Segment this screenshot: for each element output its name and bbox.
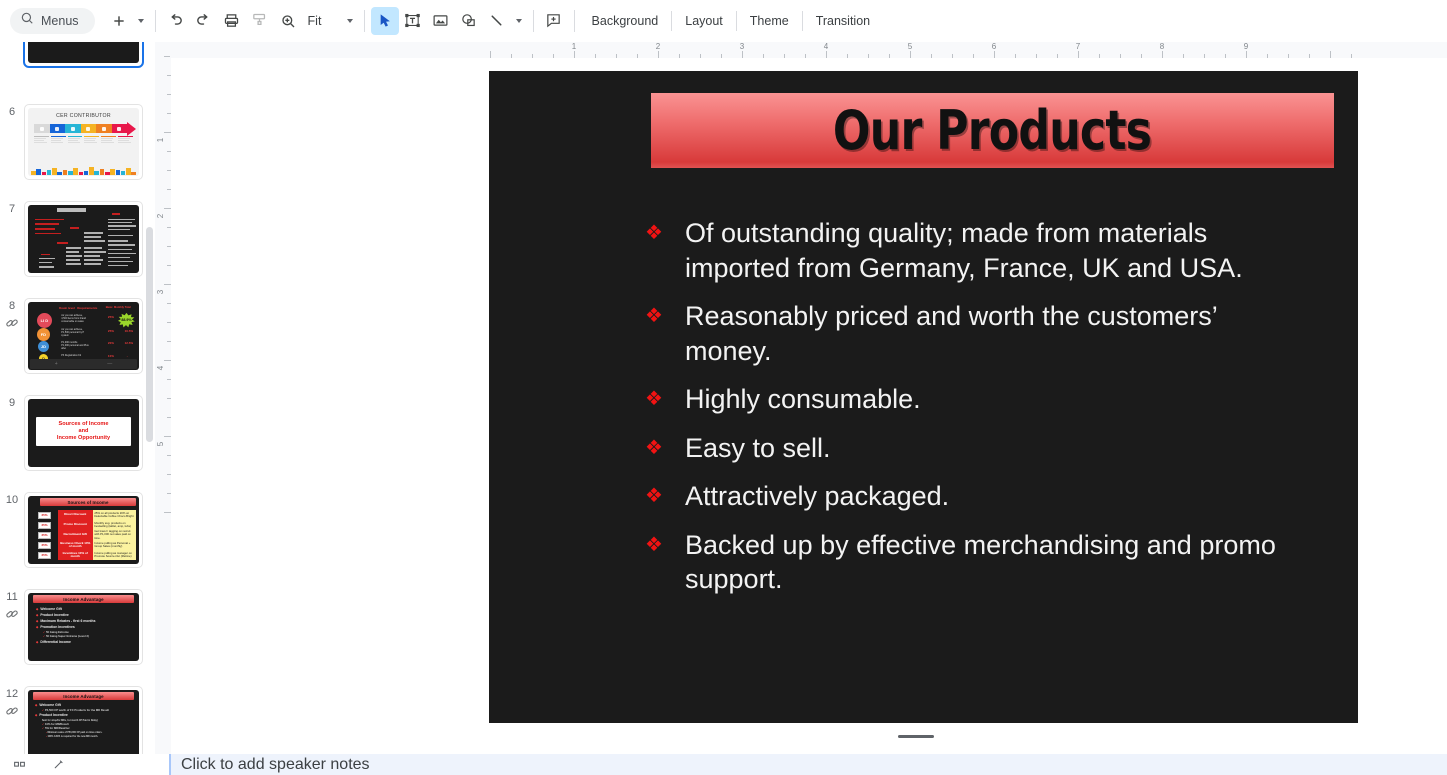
slide-9-meta: 9 <box>0 395 24 409</box>
mini-pct: 20% <box>108 341 114 345</box>
mini-line: Income Opportunity <box>36 435 131 442</box>
ruler-h-label: 7 <box>1076 42 1080 51</box>
paint-format-button[interactable] <box>246 7 274 35</box>
ruler-h-label: 4 <box>824 42 828 51</box>
horizontal-ruler: 1 2 3 4 5 6 7 8 <box>170 42 1447 58</box>
mini-pct: 25% <box>108 329 114 333</box>
slide-number: 9 <box>9 397 15 409</box>
list-item-text: Reasonably priced and worth the customer… <box>685 299 1285 368</box>
bullet-diamond-icon: ❖ <box>639 431 685 465</box>
menus-button[interactable]: Menus <box>10 8 95 34</box>
bullet-diamond-icon: ❖ <box>639 479 685 513</box>
slide-canvas[interactable]: Our Products ❖ Of outstanding quality; m… <box>171 58 1447 754</box>
mini-bullet: ◆Welcome Gift <box>35 703 135 708</box>
mini-text: As you can achieve,P1,500 personal by Ps… <box>61 328 94 337</box>
slide-10-thumbnail[interactable]: Sources of Income 25% 25% 25% 25% 25% Di… <box>24 492 143 568</box>
slide-number: 10 <box>6 494 18 506</box>
linked-file-icon <box>5 704 19 718</box>
filmstrip-slide-6[interactable]: 6 CER CONTRIBUTOR <box>0 104 155 180</box>
mini-subbullet: ✓ 50 Gaing Super Extreme (Level 3) <box>43 635 135 639</box>
mini-ticks <box>34 136 133 147</box>
filmstrip-slide-12[interactable]: 12 Income Advantage ◆Welcome Gift ✓ P4,5… <box>0 686 155 754</box>
print-button[interactable] <box>218 7 246 35</box>
insert-image-tool[interactable] <box>427 7 455 35</box>
ruler-h-label: 3 <box>740 42 744 51</box>
mini-table: 25% 25% 25% 25% 25% Direct Discount Prom… <box>38 510 136 560</box>
mini-title: Income Advantage <box>33 595 134 603</box>
filmstrip-slide-8[interactable]: 8 Down level Requirements Basic Monthly … <box>0 298 155 374</box>
ruler-h-label: 2 <box>656 42 660 51</box>
mini-col-header: Down level Requirements <box>59 306 97 310</box>
mini-bar-chart <box>31 166 136 175</box>
speaker-notes-pane[interactable]: Click to add speaker notes <box>171 754 1447 775</box>
ruler-h-label: 1 <box>572 42 576 51</box>
theme-button[interactable]: Theme <box>739 10 800 32</box>
mini-line: Sources of Income <box>36 421 131 428</box>
ruler-h-label: 9 <box>1244 42 1248 51</box>
slide-12-preview: Income Advantage ◆Welcome Gift ✓ P4,500 … <box>28 690 139 754</box>
list-item-text: Backed up by effective merchandising and… <box>685 528 1285 597</box>
line-tool[interactable] <box>483 7 511 35</box>
linked-file-icon <box>5 316 19 330</box>
slide-9-thumbnail[interactable]: Sources of Income and Income Opportunity <box>24 395 143 471</box>
ruler-v-label: 2 <box>156 214 165 218</box>
ruler-v-label: 3 <box>156 290 165 294</box>
background-button[interactable]: Background <box>581 10 670 32</box>
ruler-h-label: 5 <box>908 42 912 51</box>
bullet-diamond-icon: ❖ <box>639 528 685 562</box>
bullet-diamond-icon: ❖ <box>639 299 685 333</box>
slide-10-meta: 10 <box>0 492 24 506</box>
toolbar-separator <box>155 10 156 32</box>
shape-tool[interactable] <box>455 7 483 35</box>
slide-6-thumbnail[interactable]: CER CONTRIBUTOR <box>24 104 143 180</box>
list-item-text: Highly consumable. <box>685 382 921 417</box>
list-item-text: Attractively packaged. <box>685 479 949 514</box>
slide-12-thumbnail[interactable]: Income Advantage ◆Welcome Gift ✓ P4,500 … <box>24 686 143 754</box>
bullet-diamond-icon: ❖ <box>639 216 685 250</box>
page-title: Our Products <box>833 99 1151 162</box>
linked-file-icon <box>5 607 19 621</box>
list-item: ❖ Backed up by effective merchandising a… <box>639 528 1318 597</box>
speaker-notes-placeholder: Click to add speaker notes <box>181 756 1437 774</box>
new-slide-button[interactable] <box>105 7 133 35</box>
slide-6-meta: 6 <box>0 104 24 118</box>
filmstrip-slide-5[interactable]: 5 money. ◆Highly consumable. ◆Easy to se… <box>0 42 155 67</box>
pen-tool-button[interactable] <box>52 758 65 771</box>
zoom-dropdown[interactable] <box>342 7 358 35</box>
mini-pct: - <box>127 354 128 358</box>
list-item-text: Easy to sell. <box>685 431 831 466</box>
slide-11-meta: 11 <box>0 589 24 621</box>
select-tool[interactable] <box>371 7 399 35</box>
slide-8-preview: Down level Requirements Basic Monthly To… <box>28 302 139 370</box>
zoom-button[interactable] <box>274 7 302 35</box>
list-item: ❖ Highly consumable. <box>639 382 1318 417</box>
slide-title-band[interactable]: Our Products <box>651 93 1334 168</box>
slide-8-thumbnail[interactable]: Down level Requirements Basic Monthly To… <box>24 298 143 374</box>
menus-label: Menus <box>41 14 79 28</box>
list-item: ❖ Attractively packaged. <box>639 479 1318 514</box>
toolbar: Menus <box>0 0 1447 42</box>
mini-title: Sources of Income <box>40 498 136 506</box>
mini-bullet: ◆Product Incentive <box>36 613 135 618</box>
mini-text: P3 Registration Kit <box>61 354 94 357</box>
zoom-level-value[interactable]: Fit <box>302 14 342 28</box>
slide-5-thumbnail[interactable]: money. ◆Highly consumable. ◆Easy to sell… <box>24 42 143 67</box>
ruler-v-label: 4 <box>156 366 165 370</box>
list-item-text: Of outstanding quality; made from materi… <box>685 216 1285 285</box>
ruler-h-label: 8 <box>1160 42 1164 51</box>
bottom-bar <box>0 754 169 775</box>
mini-title: CER CONTRIBUTOR <box>28 113 139 119</box>
toolbar-divider-a <box>671 11 672 31</box>
search-icon <box>20 11 34 30</box>
mini-line: and <box>36 428 131 435</box>
mini-title: Income Advantage <box>33 692 134 700</box>
vertical-ruler: 1 2 3 4 5 <box>155 42 171 754</box>
mini-starburst-badge: 88.9% <box>118 313 135 328</box>
new-slide-dropdown[interactable] <box>133 7 149 35</box>
slide-5-preview: money. ◆Highly consumable. ◆Easy to sell… <box>28 42 139 63</box>
slide-number: 11 <box>6 591 17 603</box>
mini-subbullet: ▪ 100% CAPA is required for the new MD m… <box>46 735 135 739</box>
mini-circle: FD <box>37 328 50 341</box>
grid-view-button[interactable] <box>13 758 26 771</box>
line-tool-dropdown[interactable] <box>511 7 527 35</box>
slide-11-thumbnail[interactable]: Income Advantage ◆Welcome Gift ◆Product … <box>24 589 143 665</box>
mini-text: P1,000 monthsP1,000 personal and Plusaft… <box>61 341 94 350</box>
mini-circle: LI D <box>37 313 52 328</box>
mini-text: As you can achieve,4,500 items from bran… <box>61 314 94 323</box>
mini-bullet: ◆Product Incentive <box>35 713 135 718</box>
mini-bullet: ◆Promotion Incentives <box>36 625 135 630</box>
slide-number: 12 <box>6 688 18 700</box>
add-comment-icon[interactable] <box>540 7 568 35</box>
filmstrip-scrollbar[interactable] <box>146 227 153 442</box>
list-item: ❖ Easy to sell. <box>639 431 1318 466</box>
slide-9-preview: Sources of Income and Income Opportunity <box>28 399 139 467</box>
mini-circle: JD <box>38 341 49 352</box>
mini-bullet: ◆Maximum Rebates - first 6 months <box>36 619 135 624</box>
mini-pct: 25% <box>108 315 114 319</box>
mini-arrow-graphic <box>34 124 136 133</box>
mini-pct: 12.5% <box>125 341 134 345</box>
mini-col-header-2: Basic Monthly Total <box>106 306 131 309</box>
toolbar-divider-b <box>736 11 737 31</box>
layout-button[interactable]: Layout <box>674 10 734 32</box>
filmstrip-slide-10[interactable]: 10 Sources of Income 25% 25% 25% 25% 25% <box>0 492 155 568</box>
list-item: ❖ Of outstanding quality; made from mate… <box>639 216 1318 285</box>
mini-dense-table <box>28 205 139 273</box>
toolbar-separator-4 <box>574 10 575 32</box>
mini-pct: 10.5% <box>125 329 134 333</box>
slide-number: 7 <box>9 203 15 215</box>
transition-button[interactable]: Transition <box>805 10 881 32</box>
slide-filmstrip[interactable]: 5 money. ◆Highly consumable. ◆Easy to se… <box>0 42 155 754</box>
filmstrip-slide-7[interactable]: 7 <box>0 201 155 277</box>
mini-footer: +— <box>30 359 137 369</box>
filmstrip-slide-11[interactable]: 11 Income Advantage ◆Welcome Gift ◆Produ… <box>0 589 155 665</box>
redo-button[interactable] <box>190 7 218 35</box>
slide-11-preview: Income Advantage ◆Welcome Gift ◆Product … <box>28 593 139 661</box>
slide-10-preview: Sources of Income 25% 25% 25% 25% 25% Di… <box>28 496 139 564</box>
ruler-v-label: 5 <box>156 442 165 446</box>
slide-12-meta: 12 <box>0 686 24 718</box>
slide-7-meta: 7 <box>0 201 24 215</box>
mini-title-box: Sources of Income and Income Opportunity <box>36 417 131 446</box>
bullet-diamond-icon: ❖ <box>639 382 685 416</box>
undo-button[interactable] <box>162 7 190 35</box>
ruler-h-label: 6 <box>992 42 996 51</box>
filmstrip-slide-9[interactable]: 9 Sources of Income and Income Opportuni… <box>0 395 155 471</box>
text-box-tool[interactable] <box>399 7 427 35</box>
mini-bullet: ◆Differential Income <box>36 640 135 645</box>
slide-number: 8 <box>9 300 15 312</box>
notes-resize-handle[interactable] <box>898 735 934 738</box>
toolbar-separator-3 <box>533 10 534 32</box>
ruler-v-label: 1 <box>156 138 165 142</box>
mini-pct: 10% <box>108 354 114 358</box>
toolbar-separator-2 <box>364 10 365 32</box>
mini-bullet: ◆Welcome Gift <box>36 607 135 612</box>
list-item: ❖ Reasonably priced and worth the custom… <box>639 299 1318 368</box>
slide-body-bullets[interactable]: ❖ Of outstanding quality; made from mate… <box>639 216 1318 611</box>
slide-7-preview <box>28 205 139 273</box>
slide-7-thumbnail[interactable] <box>24 201 143 277</box>
toolbar-divider-c <box>802 11 803 31</box>
slide-8-meta: 8 <box>0 298 24 330</box>
slide-number: 6 <box>9 106 15 118</box>
current-slide[interactable]: Our Products ❖ Of outstanding quality; m… <box>489 71 1358 723</box>
slide-6-preview: CER CONTRIBUTOR <box>28 108 139 176</box>
